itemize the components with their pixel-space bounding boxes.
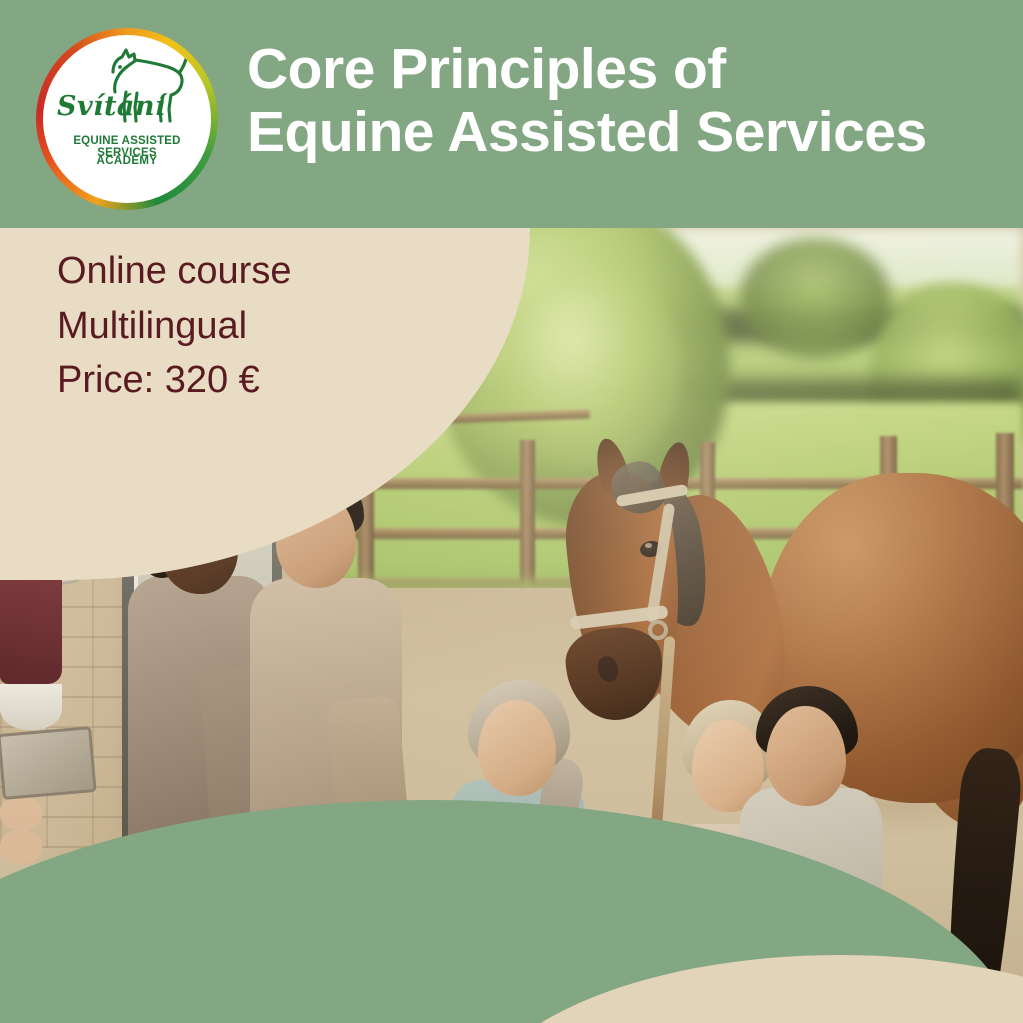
info-price: Price: 320 € (57, 353, 291, 408)
person3-hand-right (0, 830, 42, 864)
person3-tablet (0, 726, 97, 800)
logo-brand-script: Svítání (57, 91, 166, 122)
info-format: Online course (57, 244, 291, 299)
background-tree-far-right (740, 238, 890, 358)
title-line-2: Equine Assisted Services (247, 101, 1007, 164)
horse-eye-highlight (645, 543, 652, 548)
person5-head (766, 706, 846, 806)
info-language: Multilingual (57, 299, 291, 354)
logo-subtitle-line2: ACADEMY (43, 155, 211, 167)
person3-hand-left (0, 796, 42, 830)
page-title: Core Principles of Equine Assisted Servi… (247, 38, 1007, 165)
background-tree-center-highlight (500, 268, 680, 468)
person3-shirt-collar (0, 684, 62, 730)
poster: Core Principles of Equine Assisted Servi… (0, 0, 1023, 1023)
brand-logo[interactable]: Svítání EQUINE ASSISTED SERVICES ACADEMY (36, 28, 218, 210)
title-line-1: Core Principles of (247, 38, 1007, 101)
course-info: Online course Multilingual Price: 320 € (57, 244, 291, 408)
person3-head (478, 700, 556, 796)
logo-inner-disc: Svítání EQUINE ASSISTED SERVICES ACADEMY (43, 35, 211, 203)
